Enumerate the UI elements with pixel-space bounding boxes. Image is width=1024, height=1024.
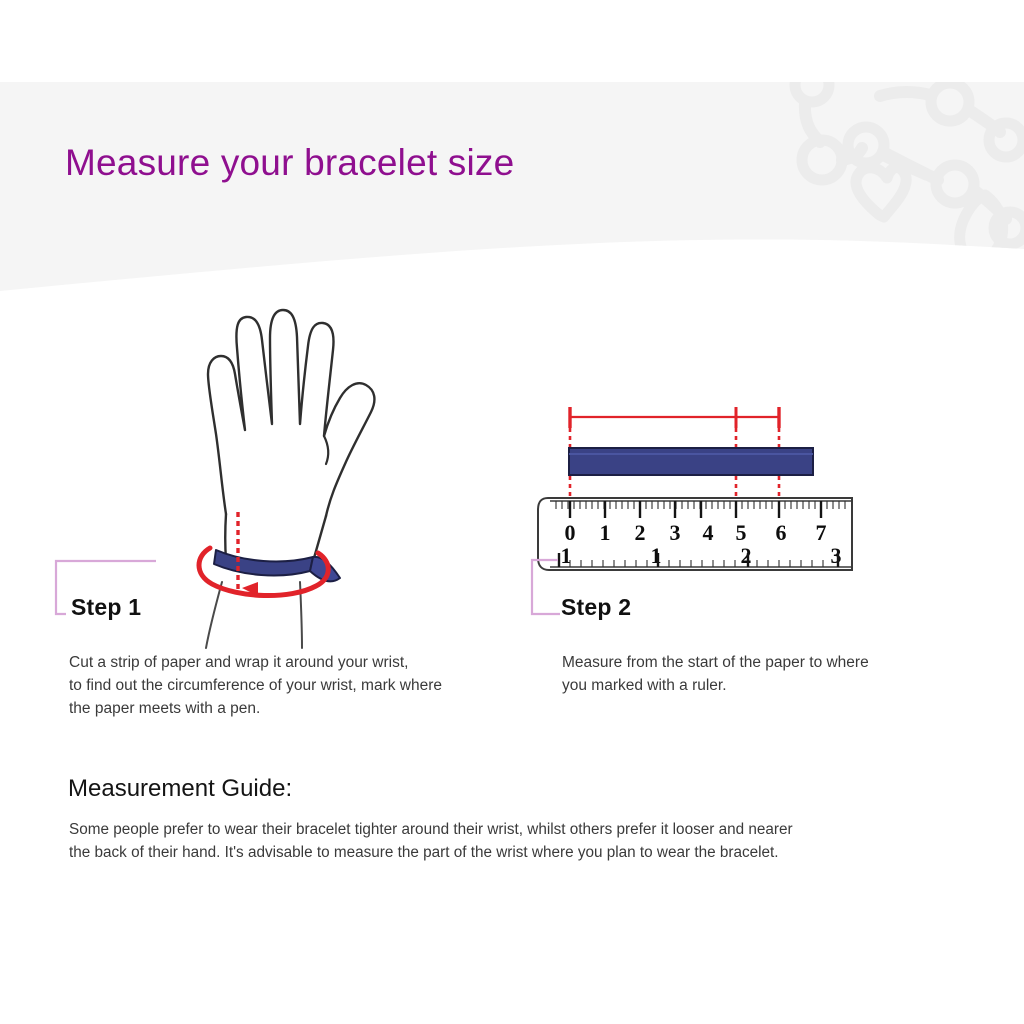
step-1-label: Step 1 (71, 594, 141, 621)
leaf-charm-icon (960, 195, 1003, 260)
chain-link-icon (969, 110, 1000, 132)
step-1-marker: Step 1 (52, 558, 352, 624)
measurement-guide-text: Some people prefer to wear their bracele… (69, 818, 977, 864)
chain-ring-icon (931, 83, 969, 121)
size-guide-page: Measure your bracelet size (0, 0, 1024, 1024)
step-2-label: Step 2 (561, 594, 631, 621)
chain-ring-icon (802, 140, 842, 180)
chain-ring-icon (936, 165, 974, 203)
chain-link-icon (805, 104, 820, 142)
page-title: Measure your bracelet size (65, 142, 514, 184)
ruler-cm-label: 1 (600, 520, 611, 545)
ruler-cm-label: 4 (703, 520, 714, 545)
chain-link-icon (974, 190, 1006, 219)
chain-ring-icon (848, 127, 884, 163)
step-1-description: Cut a strip of paper and wrap it around … (69, 651, 539, 720)
ruler-cm-label: 3 (670, 520, 681, 545)
ruler-inch-label: 3 (831, 543, 842, 568)
chain-link-icon (842, 148, 862, 160)
hand-outline (208, 310, 374, 516)
ruler-cm-label: 2 (635, 520, 646, 545)
chain-ring-icon (994, 212, 1024, 244)
chain-ring-icon (795, 68, 829, 102)
chain-link-icon (883, 152, 938, 180)
chain-link-icon (880, 92, 930, 96)
chain-ring-icon (989, 123, 1023, 157)
ruler-cm-label: 6 (776, 520, 787, 545)
ruler-cm-label: 7 (816, 520, 827, 545)
step-bracket-path (532, 560, 560, 614)
chain-link-icon (886, 157, 926, 175)
heart-charm-icon (856, 167, 906, 217)
step-2-description: Measure from the start of the paper to w… (562, 651, 962, 697)
measurement-bracket (570, 407, 779, 428)
step-2-marker: Step 2 (528, 556, 828, 624)
ruler-cm-label: 0 (565, 520, 576, 545)
measurement-guide-heading: Measurement Guide: (68, 775, 292, 803)
charm-bracelet-watermark (795, 68, 1024, 260)
paper-strip-measured (569, 448, 813, 475)
ruler-cm-label: 5 (736, 520, 747, 545)
header-wave-shape (0, 82, 1024, 291)
